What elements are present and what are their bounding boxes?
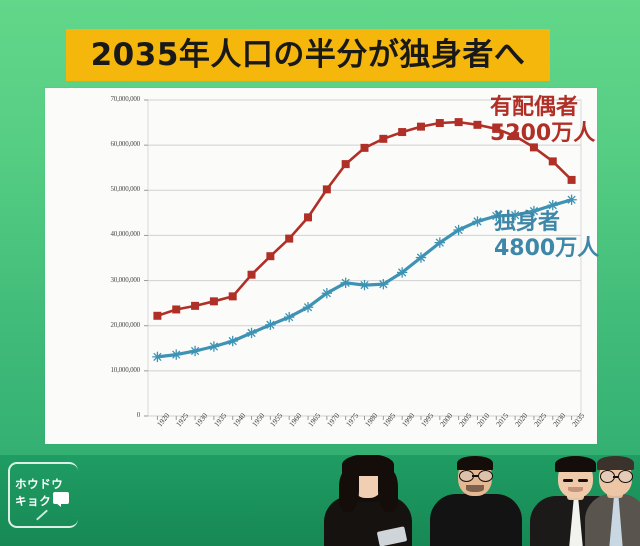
y-axis-tick-label: 50,000,000 [78,185,140,193]
annotation-single-value: 4800万人 [494,237,599,261]
logo-line-2: キョク [15,493,51,509]
y-axis-tick-label: 70,000,000 [78,95,140,103]
presenter-2 [430,462,522,546]
annotation-married-label: 有配偶者 [490,96,595,120]
y-axis-tick-label: 40,000,000 [78,230,140,238]
y-axis-tick-label: 0 [78,411,140,419]
presenter-video-strip [0,455,640,546]
annotation-married-value: 5200万人 [490,122,595,146]
presenter-4 [585,462,640,546]
y-axis-tick-label: 30,000,000 [78,276,140,284]
annotation-single-label: 独身者 [494,211,599,235]
camera-speech-bubble-icon [53,492,69,504]
annotation-married: 有配偶者 5200万人 [490,96,595,146]
annotation-single: 独身者 4800万人 [494,211,599,261]
title-banner: 2035年人口の半分が独身者へ [66,29,550,81]
y-axis-tick-label: 60,000,000 [78,140,140,148]
broadcast-graphic-stage: 2035年人口の半分が独身者へ 010,000,00020,000,00030,… [0,0,640,546]
presenter-1 [322,464,414,546]
page-title: 2035年人口の半分が独身者へ [91,40,526,71]
y-axis-tick-label: 10,000,000 [78,366,140,374]
logo-line-1: ホウドウ [15,476,63,492]
y-axis-tick-label: 20,000,000 [78,321,140,329]
broadcaster-logo: ホウドウ キョク [8,462,76,524]
